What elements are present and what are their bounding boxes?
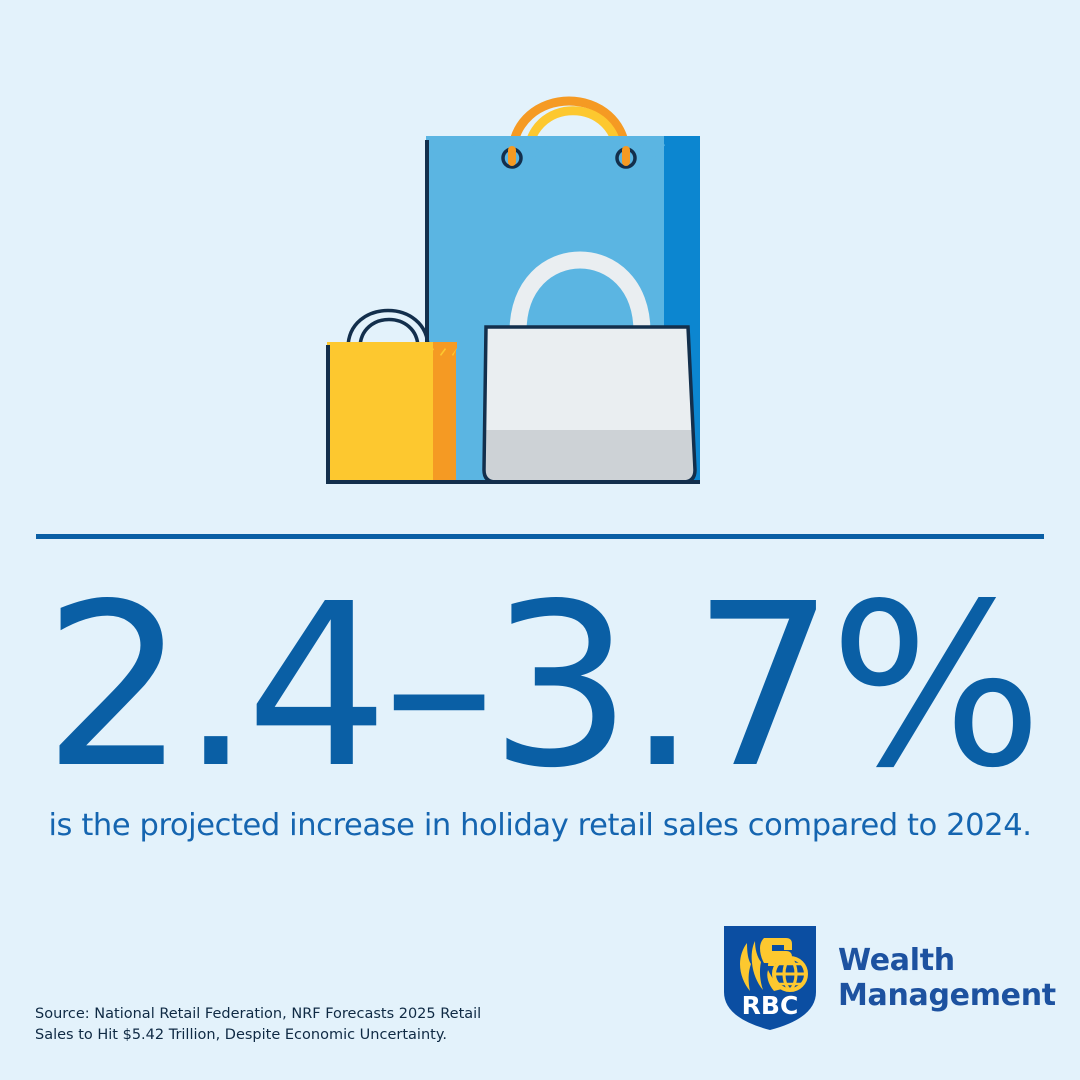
source-line-2: Sales to Hit $5.42 Trillion, Despite Eco… xyxy=(35,1025,505,1046)
rbc-wealth-management-logo: RBC Wealth Management xyxy=(724,926,1056,1030)
logo-tagline-line-2: Management xyxy=(838,978,1056,1013)
shopping-bags-illustration xyxy=(300,40,780,500)
source-note: Source: National Retail Federation, NRF … xyxy=(35,1004,505,1046)
infographic-canvas: 2.4–3.7% is the projected increase in ho… xyxy=(0,0,1080,1080)
statistic-value: 2.4–3.7% xyxy=(0,588,1080,786)
rbc-shield-icon: RBC xyxy=(724,926,816,1030)
horizontal-divider xyxy=(36,534,1044,539)
white-tote xyxy=(484,327,695,482)
statistic-caption: is the projected increase in holiday ret… xyxy=(0,808,1080,845)
logo-tagline-line-1: Wealth xyxy=(838,943,1056,978)
logo-tagline: Wealth Management xyxy=(838,943,1056,1014)
source-line-1: Source: National Retail Federation, NRF … xyxy=(35,1004,505,1025)
statistic-block: 2.4–3.7% is the projected increase in ho… xyxy=(0,588,1080,845)
rbc-wordmark: RBC xyxy=(742,991,799,1020)
yellow-bag xyxy=(327,342,457,482)
